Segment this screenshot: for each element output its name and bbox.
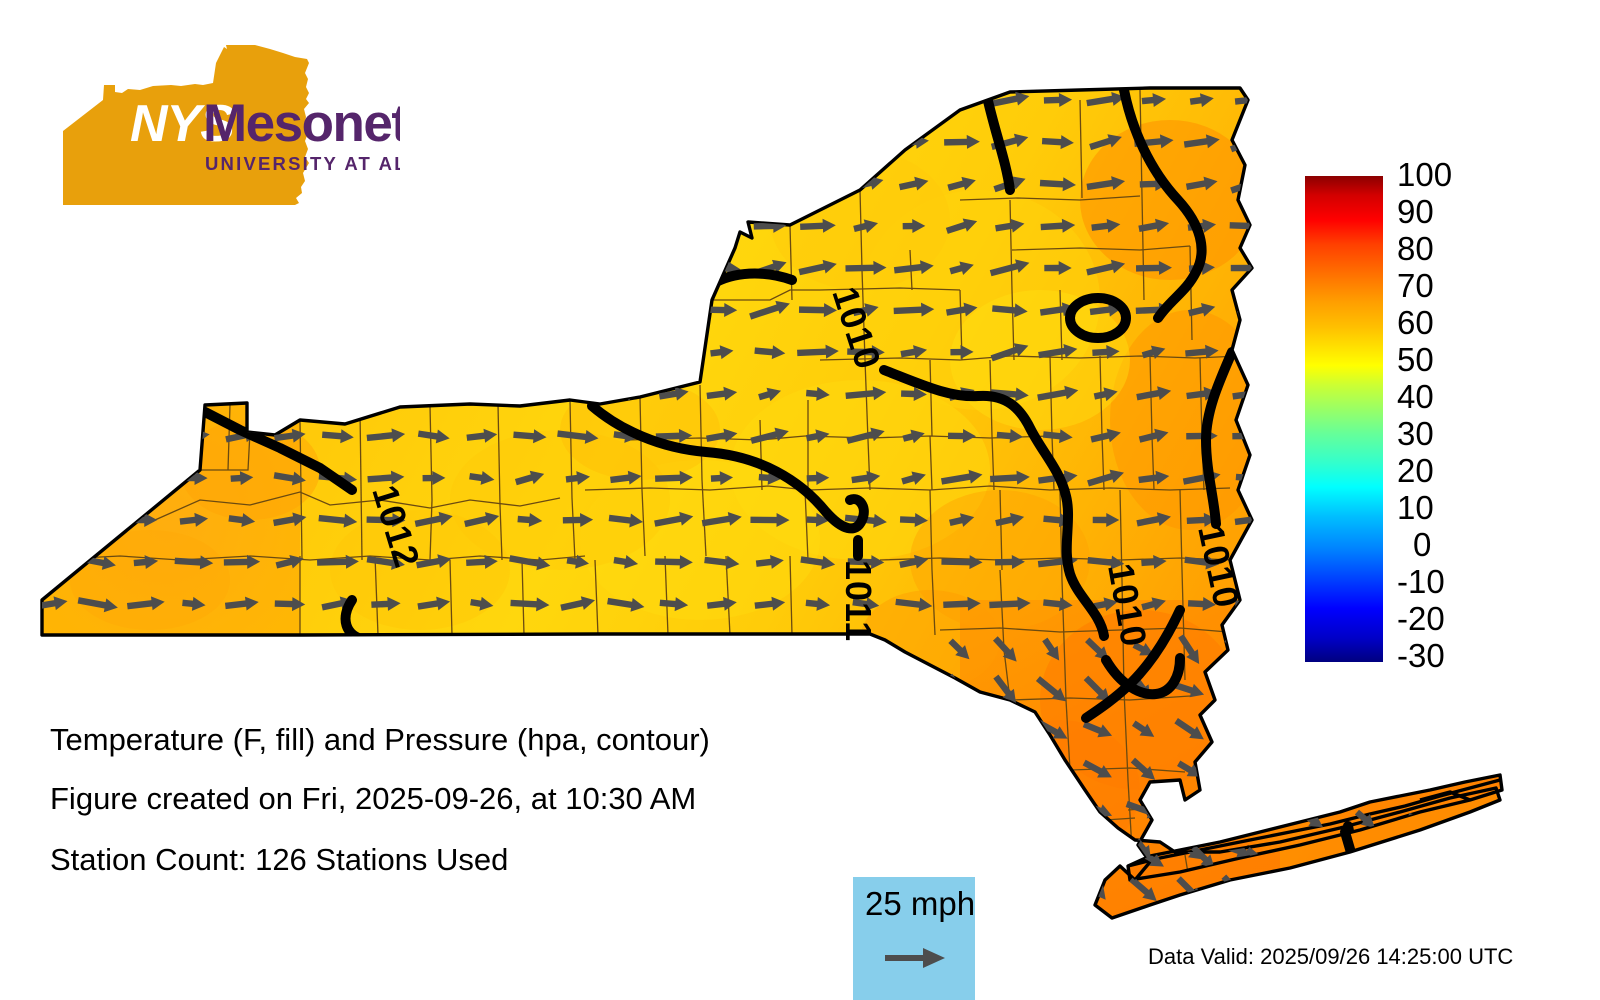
wind-arrow: [35, 261, 65, 276]
wind-arrow: [612, 342, 640, 362]
wind-arrow: [470, 175, 494, 193]
wind-legend-label: 25 mph: [865, 885, 975, 923]
wind-arrow: [660, 134, 689, 150]
wind-arrow: [222, 342, 262, 362]
wind-arrow: [320, 343, 357, 362]
wind-arrow: [181, 386, 206, 402]
colorbar-tick-70: 70: [1397, 269, 1434, 302]
wind-arrow: [317, 256, 359, 279]
wind-arrow: [83, 219, 113, 234]
wind-arrow: [271, 383, 309, 406]
wind-arrow: [608, 260, 643, 276]
wind-arrow: [173, 259, 215, 278]
data-valid-text: Data Valid: 2025/09/26 14:25:00 UTC: [1148, 944, 1513, 970]
colorbar-tick-20: 20: [1397, 454, 1434, 487]
wind-arrow: [177, 344, 212, 361]
wind-arrow: [460, 216, 503, 237]
wind-arrow: [514, 343, 547, 360]
wind-arrow: [413, 261, 455, 275]
wind-arrow: [988, 792, 1025, 827]
wind-arrow: [230, 260, 254, 277]
wind-arrow: [705, 216, 740, 237]
wind-arrow: [413, 214, 455, 239]
wind-arrow: [613, 301, 639, 319]
colorbar-gradient: [1305, 176, 1383, 662]
wind-arrow: [946, 716, 975, 743]
logo-mesonet-text: Mesonet: [203, 94, 400, 153]
temperature-colorbar: 100 90 80 70 60 50 40 30 20 10 0 -10 -20…: [1305, 172, 1595, 672]
wind-arrow: [1460, 843, 1489, 872]
wind-arrow: [464, 386, 500, 402]
colorbar-tick-minus30: -30: [1397, 639, 1445, 672]
colorbar-tick-minus20: -20: [1397, 602, 1445, 635]
nys-mesonet-logo: NYS Mesonet UNIVERSITY AT ALBANY: [55, 45, 400, 205]
wind-arrow: [38, 217, 62, 234]
wind-arrow: [802, 89, 833, 111]
colorbar-tick-40: 40: [1397, 380, 1434, 413]
wind-arrow: [802, 176, 834, 192]
wind-arrow: [510, 260, 550, 275]
wind-arrow: [371, 218, 400, 235]
wind-arrow: [462, 92, 501, 107]
wind-arrow: [33, 343, 66, 360]
wind-arrow: [801, 134, 836, 149]
colorbar-tick-80: 80: [1397, 232, 1434, 265]
wind-arrow: [419, 344, 449, 360]
wind-arrow: [275, 219, 304, 233]
wind-arrow: [1038, 757, 1066, 784]
colorbar-tick-minus10: -10: [1397, 565, 1445, 598]
wind-arrow: [82, 512, 114, 527]
colorbar-tick-10: 10: [1397, 491, 1434, 524]
wind-arrow: [515, 216, 545, 236]
wind-arrow: [86, 344, 110, 361]
wind-arrow: [321, 216, 355, 237]
colorbar-tick-60: 60: [1397, 306, 1434, 339]
wind-arrow: [85, 301, 111, 320]
wind-arrow: [418, 135, 450, 149]
wind-arrow: [36, 302, 63, 318]
wind-arrow: [84, 260, 113, 277]
wind-arrow: [1037, 879, 1068, 902]
wind-arrow: [1223, 678, 1249, 703]
wind-arrow: [513, 88, 547, 111]
right-arrow-icon: [885, 945, 947, 971]
wind-arrow: [609, 133, 643, 152]
wind-arrow: [1219, 756, 1253, 784]
wind-arrow: [563, 92, 593, 107]
wind-arrow: [1351, 881, 1381, 911]
wind-arrow: [607, 215, 646, 237]
wind-arrow: [274, 259, 305, 277]
wind-arrow: [29, 470, 70, 487]
wind-arrow: [945, 757, 974, 784]
wind-arrow: [849, 90, 883, 111]
wind-arrow: [757, 93, 783, 107]
wind-arrow: [560, 130, 596, 155]
wind-arrow: [662, 260, 687, 276]
weather-map-figure: 1010 1012 1011 1010 1010 NYS Mesonet UNI…: [0, 0, 1600, 1000]
colorbar-tick-50: 50: [1397, 343, 1434, 376]
wind-arrow: [414, 176, 454, 193]
wind-arrow: [706, 90, 739, 109]
wind-arrow: [657, 302, 691, 318]
wind-arrow: [989, 754, 1024, 785]
wind-arrow: [993, 876, 1020, 903]
wind-arrow: [126, 428, 166, 445]
wind-arrow: [132, 216, 159, 236]
wind-arrow: [83, 470, 112, 486]
wind-arrow: [134, 470, 159, 486]
wind-arrow: [1217, 797, 1256, 823]
wind-arrow: [1080, 837, 1116, 864]
wind-arrow: [466, 261, 498, 276]
wind-arrow: [36, 385, 65, 403]
wind-arrow: [993, 837, 1019, 863]
wind-arrow: [1243, 883, 1273, 909]
wind-arrow: [323, 387, 353, 402]
wind-arrow: [224, 218, 261, 233]
contour-label-1011-central: 1011: [838, 560, 879, 642]
wind-arrow: [512, 134, 549, 151]
wind-arrow: [753, 131, 788, 153]
wind-arrow: [1459, 882, 1489, 909]
wind-arrow: [987, 717, 1024, 743]
wind-arrow: [416, 301, 452, 318]
wind-arrow: [1405, 881, 1435, 912]
wind-arrow: [226, 299, 257, 320]
wind-arrow: [37, 513, 63, 528]
wind-arrow: [124, 340, 168, 363]
station-count-text: Station Count: 126 Stations Used: [50, 842, 508, 878]
colorbar-tick-100: 100: [1397, 158, 1452, 191]
wind-arrow: [513, 173, 548, 194]
wind-arrow: [178, 302, 211, 319]
wind-arrow: [1036, 795, 1069, 826]
wind-arrow: [462, 133, 502, 151]
colorbar-tick-90: 90: [1397, 195, 1434, 228]
colorbar-tick-0: 0: [1413, 528, 1431, 561]
wind-arrow: [557, 217, 599, 234]
colorbar-tick-30: 30: [1397, 417, 1434, 450]
wind-arrow: [513, 384, 547, 404]
wind-arrow: [131, 300, 162, 319]
wind-arrow: [559, 340, 597, 364]
wind-arrow: [514, 302, 545, 317]
wind-arrow: [365, 257, 408, 278]
wind-arrow: [1190, 807, 1219, 833]
wind-arrow: [1238, 344, 1262, 359]
wind-arrow: [658, 343, 690, 361]
wind-arrow: [1244, 809, 1272, 831]
wind-arrow: [1295, 882, 1329, 911]
wind-arrow: [415, 383, 453, 404]
wind-arrow: [469, 302, 494, 317]
wind-arrow: [1034, 833, 1069, 866]
wind-arrow: [653, 176, 694, 192]
wind-arrow: [131, 384, 161, 404]
wind-arrow: [654, 215, 694, 237]
wind-arrow: [1175, 799, 1205, 822]
wind-arrow: [36, 554, 65, 571]
wind-arrow: [947, 796, 973, 824]
wind-arrow: [78, 429, 118, 443]
wind-arrow: [756, 176, 784, 193]
wind-arrow: [847, 129, 885, 155]
wind-speed-legend: 25 mph: [853, 877, 975, 1000]
wind-arrow: [610, 176, 642, 192]
wind-arrow: [130, 257, 163, 279]
wind-arrow: [39, 429, 62, 443]
wind-arrow: [366, 299, 406, 320]
figure-title: Temperature (F, fill) and Pressure (hpa,…: [50, 722, 710, 758]
wind-arrow: [180, 216, 207, 236]
wind-arrow: [561, 302, 596, 317]
wind-arrow: [898, 92, 930, 108]
wind-arrow: [709, 176, 734, 191]
wind-arrow: [84, 384, 112, 404]
wind-arrow: [221, 386, 262, 403]
wind-arrow: [701, 132, 744, 152]
wind-arrow: [374, 345, 399, 359]
wind-arrow: [654, 92, 694, 108]
wind-arrow: [610, 90, 642, 111]
wind-arrow: [414, 88, 454, 111]
wind-arrow: [466, 345, 498, 359]
wind-arrow: [270, 303, 310, 318]
wind-arrow: [945, 839, 975, 861]
wind-arrow: [372, 384, 400, 404]
wind-arrow: [270, 344, 309, 359]
wind-arrow: [1222, 719, 1251, 741]
figure-created-text: Figure created on Fri, 2025-09-26, at 10…: [50, 781, 696, 817]
wind-arrow: [560, 176, 596, 192]
wind-arrow: [1402, 845, 1438, 871]
wind-arrow: [558, 258, 598, 279]
wind-arrow: [325, 301, 350, 320]
logo-subtitle-text: UNIVERSITY AT ALBANY: [205, 153, 400, 174]
